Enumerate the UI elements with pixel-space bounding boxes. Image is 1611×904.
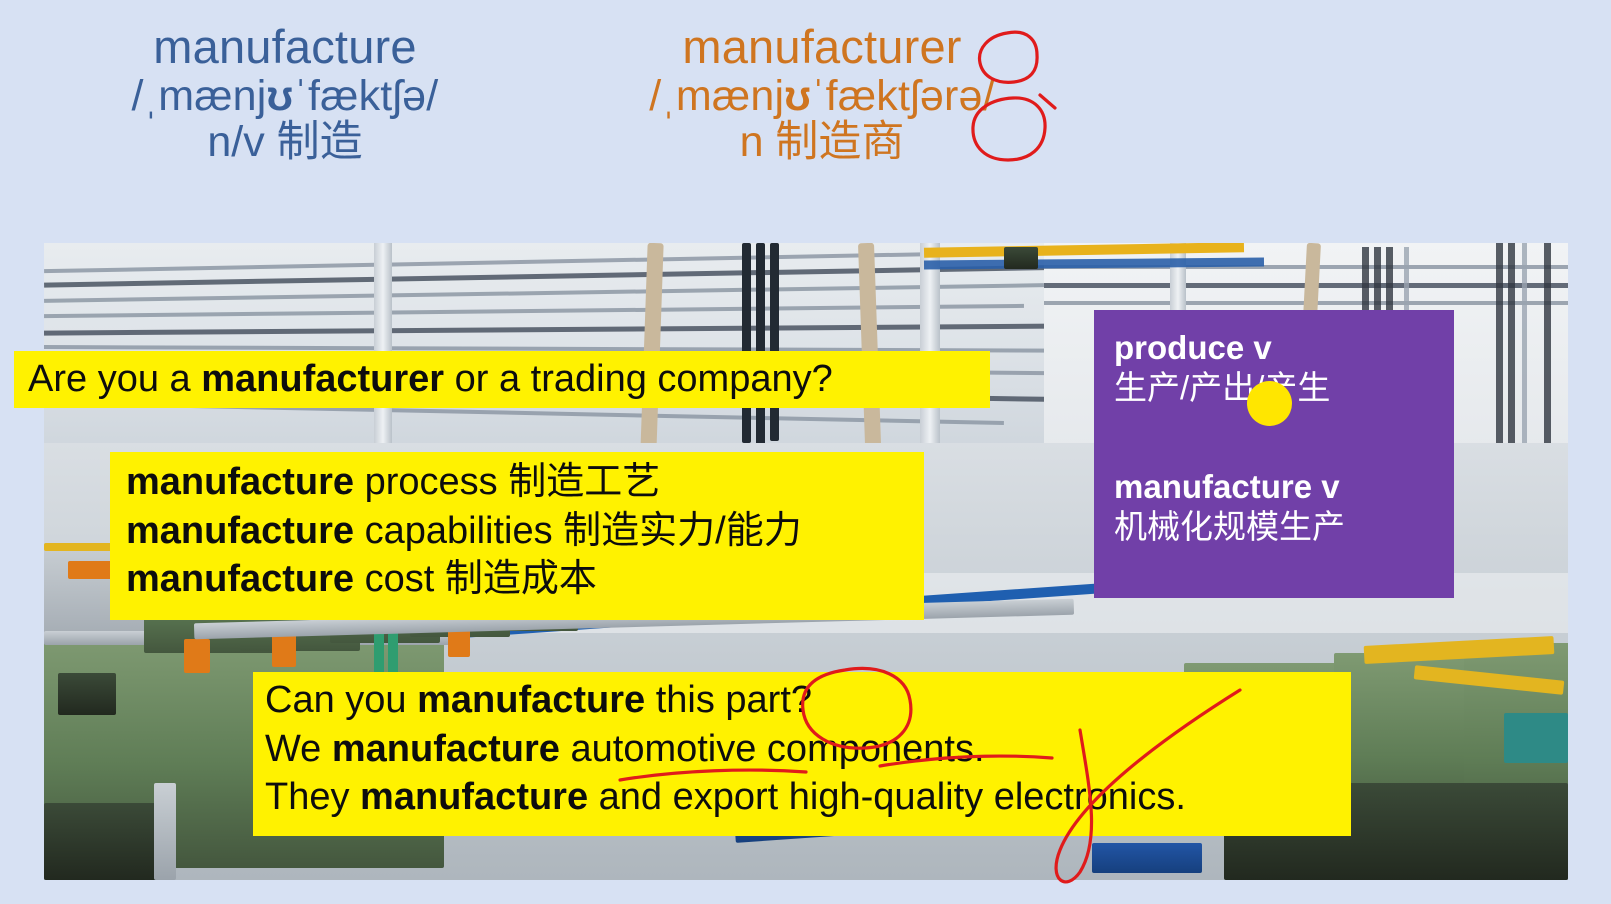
slide-canvas: manufacture /ˌmænjʊˈfæktʃə/ n/v 制造 manuf… xyxy=(0,0,1611,904)
check-stroke xyxy=(1056,690,1240,882)
circle-around-part xyxy=(803,668,911,748)
ink-tail xyxy=(1040,95,1055,108)
circle-around-final-r xyxy=(980,32,1038,82)
circle-around-schwa-r-schwa xyxy=(973,98,1045,160)
underline-components xyxy=(880,756,1052,766)
ink-annotation-layer xyxy=(0,0,1611,904)
underline-automotive xyxy=(620,770,806,780)
